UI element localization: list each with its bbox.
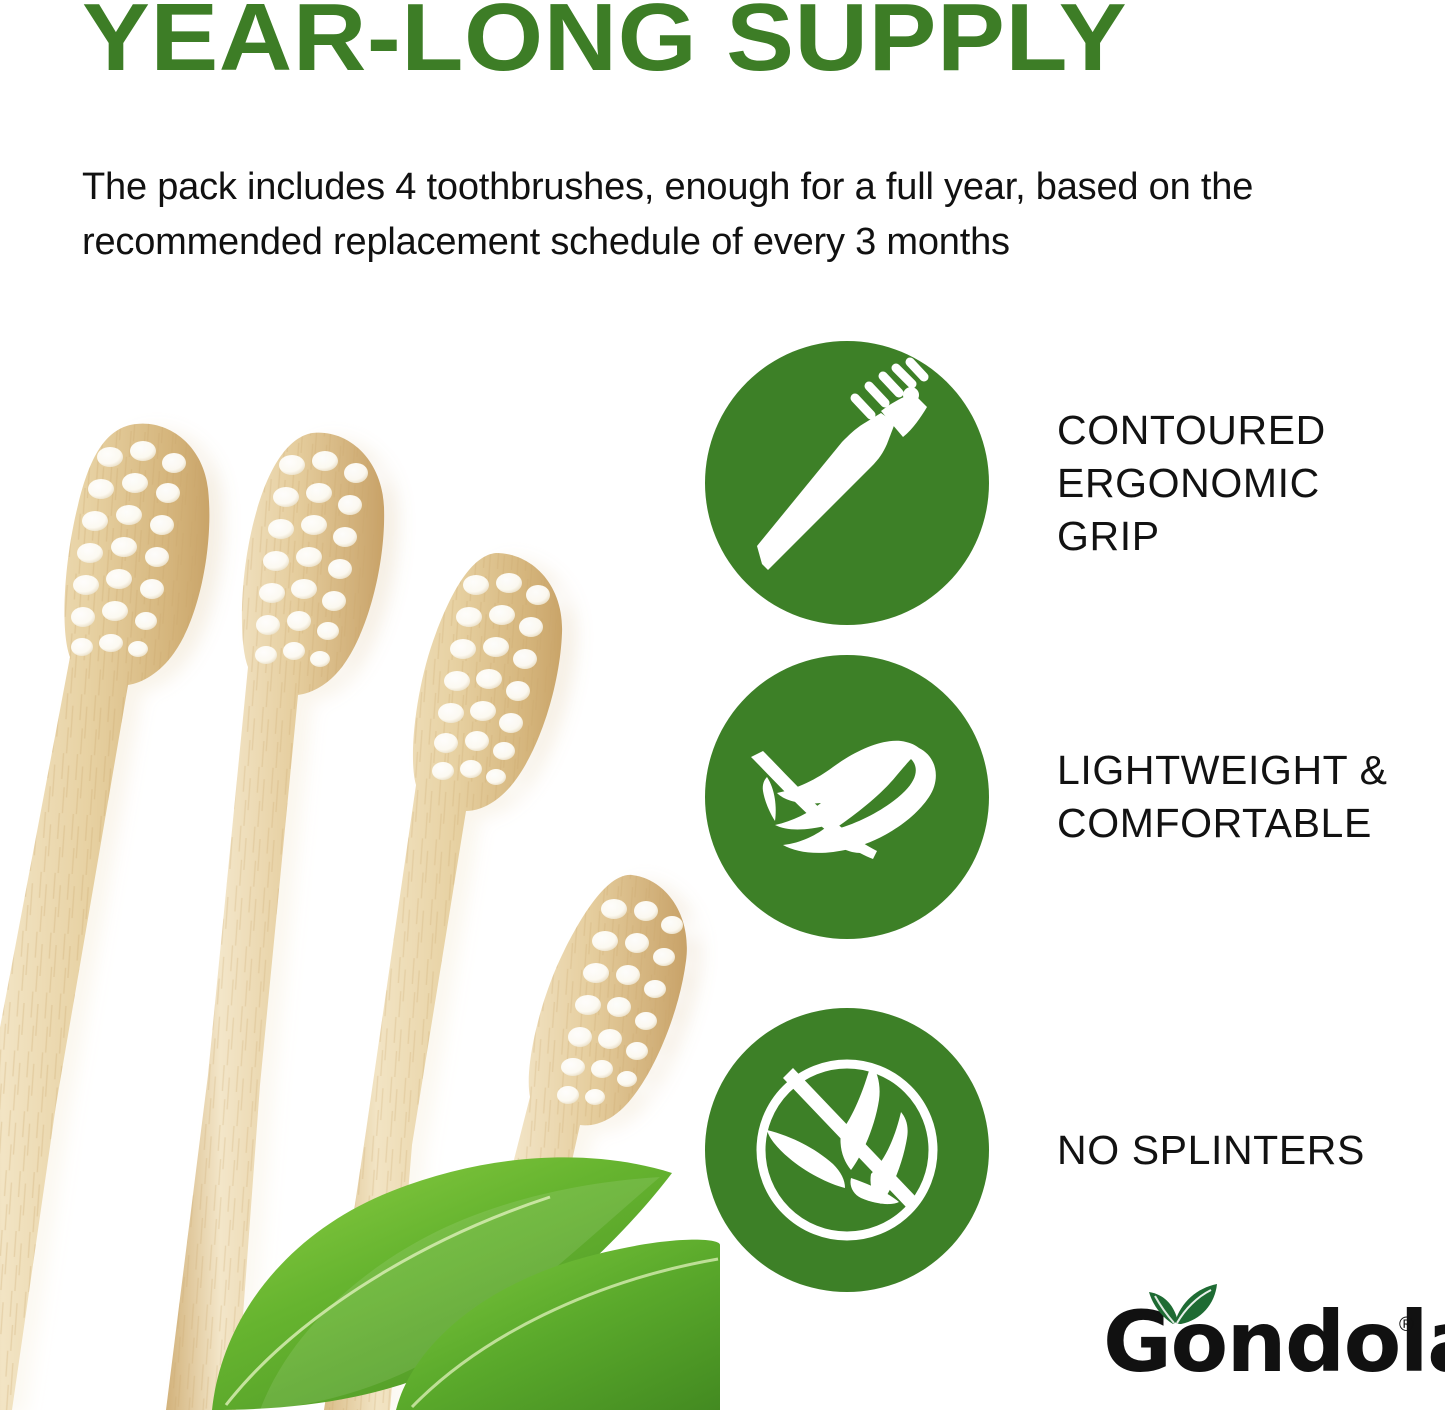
feature-row-lightweight-comfortable: LIGHTWEIGHT & COMFORTABLE: [705, 655, 1435, 939]
feature-row-contoured-ergonomic-grip: CONTOURED ERGONOMIC GRIP: [705, 341, 1435, 625]
brand-logo: Gondola ®: [1103, 1286, 1433, 1391]
description-text: The pack includes 4 toothbrushes, enough…: [82, 160, 1372, 270]
registered-trademark-symbol: ®: [1399, 1314, 1414, 1337]
bamboo-toothbrushes-photo: [0, 385, 720, 1410]
leaf-icon: [1141, 1282, 1219, 1328]
page-title: YEAR-LONG SUPPLY: [82, 0, 1445, 90]
product-feature-graphic: YEAR-LONG SUPPLY The pack includes 4 too…: [0, 0, 1445, 1410]
feature-label: CONTOURED ERGONOMIC GRIP: [1057, 404, 1326, 563]
no-splinters-icon: [705, 1008, 989, 1292]
feature-row-no-splinters: NO SPLINTERS: [705, 1008, 1435, 1292]
bamboo-leaves: [212, 1157, 720, 1410]
toothbrush-icon: [705, 341, 989, 625]
feather-icon: [705, 655, 989, 939]
toothbrush-1: [0, 424, 209, 1410]
feature-label: NO SPLINTERS: [1057, 1124, 1365, 1177]
feature-label: LIGHTWEIGHT & COMFORTABLE: [1057, 744, 1388, 850]
